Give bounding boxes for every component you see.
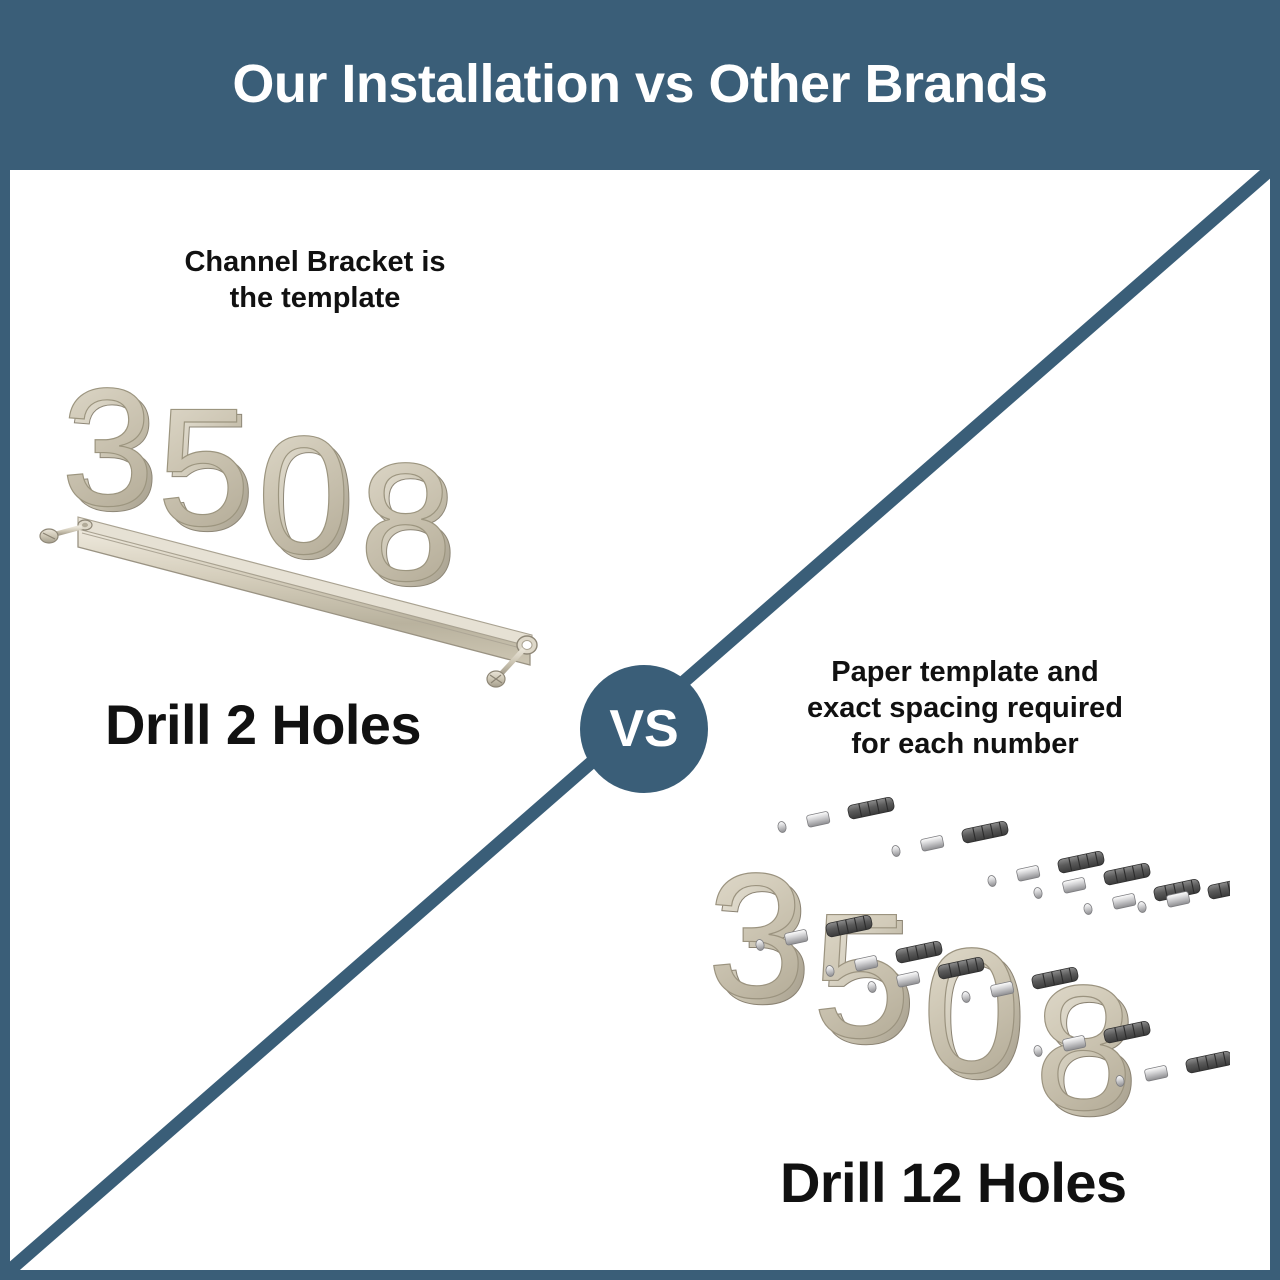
comparison-stage: 3 5 0 8 3 5 0 8 [7, 167, 1273, 1273]
page-title: Our Installation vs Other Brands [232, 53, 1047, 115]
vs-badge-label: VS [609, 703, 678, 755]
left-headline: Drill 2 Holes [105, 692, 421, 757]
left-caption: Channel Bracket is the template [70, 245, 560, 317]
svg-text:3: 3 [61, 353, 154, 541]
wall-anchor-icon [777, 796, 895, 834]
vs-badge: VS [580, 665, 708, 793]
channel-bracket-product-image: 3 5 0 8 3 5 0 8 [30, 345, 570, 695]
svg-text:0: 0 [257, 401, 350, 589]
svg-text:8: 8 [359, 428, 452, 616]
right-headline: Drill 12 Holes [780, 1150, 1126, 1215]
svg-text:0: 0 [922, 911, 1021, 1110]
wall-anchor-icon [891, 820, 1009, 858]
loose-numbers-product-image: 3 5 0 8 3 5 0 8 [690, 785, 1230, 1155]
comparison-graphic: Our Installation vs Other Brands [0, 0, 1280, 1280]
right-caption: Paper template and exact spacing require… [730, 655, 1200, 763]
svg-text:5: 5 [812, 876, 911, 1075]
header-banner: Our Installation vs Other Brands [0, 0, 1280, 167]
svg-text:5: 5 [157, 373, 250, 561]
